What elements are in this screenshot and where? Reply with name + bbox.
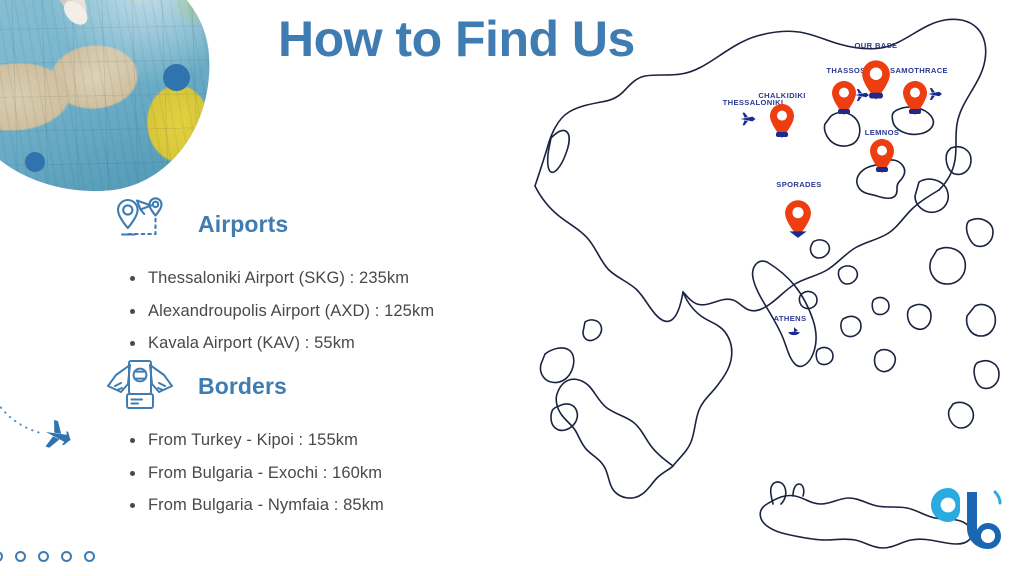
map-pin-route-icon <box>104 196 176 252</box>
decor-dot-large <box>163 64 190 91</box>
map-label-thassos: THASSOS <box>826 66 865 75</box>
map-label-athens: ATHENS <box>774 314 807 323</box>
section-airports: Airports Thessaloniki Airport (SKG) : 23… <box>104 196 434 368</box>
airports-list: Thessaloniki Airport (SKG) : 235km Alexa… <box>130 270 434 352</box>
decor-ring <box>38 551 49 562</box>
slide-root: How to Find Us Airports Thessa <box>0 0 1024 576</box>
boat-glyph-athens <box>787 327 801 338</box>
section-borders-title: Borders <box>198 373 287 400</box>
list-item: Alexandroupolis Airport (AXD) : 125km <box>130 303 434 320</box>
airplane-glyph-thassos <box>854 89 870 102</box>
list-item: From Bulgaria - Exochi : 160km <box>130 465 384 482</box>
flight-path-airplane-icon <box>0 372 106 452</box>
section-airports-header: Airports <box>104 196 434 252</box>
company-b-logo[interactable] <box>926 488 1002 558</box>
list-item: Kavala Airport (KAV) : 55km <box>130 335 434 352</box>
map-label-lemnos: LEMNOS <box>865 128 900 137</box>
borders-list: From Turkey - Kipoi : 155km From Bulgari… <box>130 432 384 514</box>
decor-ring <box>0 551 3 562</box>
decor-ring <box>15 551 26 562</box>
map-pin-sporades[interactable] <box>784 199 812 238</box>
decor-ring <box>84 551 95 562</box>
decor-ring <box>61 551 72 562</box>
section-borders: Borders From Turkey - Kipoi : 155km From… <box>104 358 384 530</box>
map-pin-chalkidiki[interactable] <box>769 103 795 139</box>
greece-map: THESSALONIKI CHALKIDIKI THASSOS OUR BASE… <box>505 6 1021 566</box>
map-label-sporades: SPORADES <box>776 180 821 189</box>
airplane-glyph-samothrace <box>927 88 943 101</box>
section-borders-header: Borders <box>104 358 384 414</box>
list-item: From Turkey - Kipoi : 155km <box>130 432 384 449</box>
airplane-glyph-thessaloniki <box>740 112 757 126</box>
list-item: From Bulgaria - Nymfaia : 85km <box>130 497 384 514</box>
list-item: Thessaloniki Airport (SKG) : 235km <box>130 270 434 287</box>
map-pin-samothrace[interactable] <box>902 80 928 116</box>
decor-ring-row <box>0 551 95 562</box>
map-pin-lemnos[interactable] <box>869 138 895 174</box>
decor-dot-small <box>25 152 45 172</box>
map-label-samothrace: SAMOTHRACE <box>890 66 948 75</box>
section-airports-title: Airports <box>198 211 288 238</box>
passport-documents-icon <box>104 358 176 414</box>
map-label-chalkidiki: CHALKIDIKI <box>758 91 805 100</box>
map-label-our-base: OUR BASE <box>855 41 898 50</box>
greece-map-outline <box>505 6 1021 566</box>
